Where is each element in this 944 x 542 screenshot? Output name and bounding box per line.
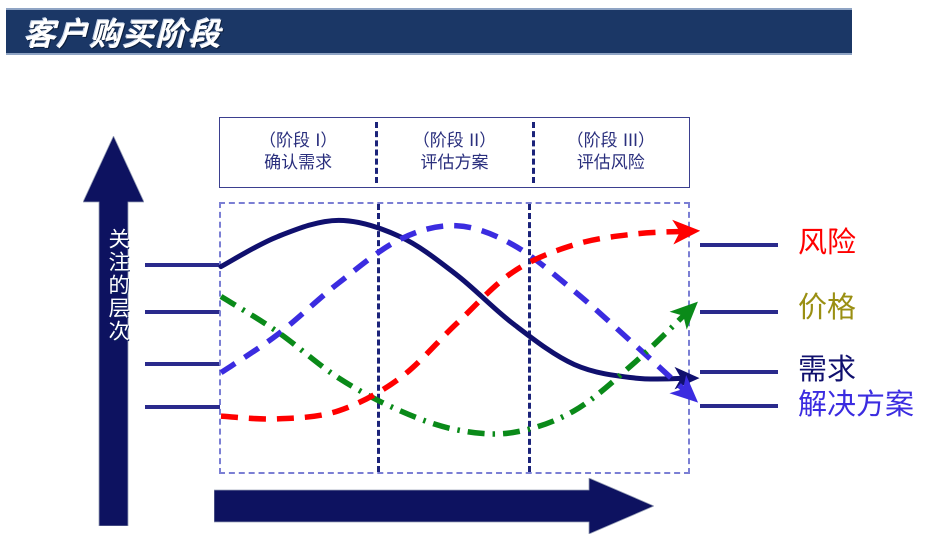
- legend-label-risk[interactable]: 风险: [798, 228, 856, 257]
- phase-2-roman: （阶段 II）: [413, 131, 496, 152]
- page-title: 客户购买阶段: [24, 9, 222, 54]
- phase-3-name: 评估风险: [577, 153, 645, 174]
- legend-label-solution[interactable]: 解决方案: [798, 390, 914, 419]
- y-axis-label: 关注的层次: [96, 228, 130, 343]
- legend-connector-price: [700, 310, 778, 314]
- plot-area: [219, 202, 690, 474]
- phase-cell-1[interactable]: （阶段 I） 确认需求: [220, 118, 376, 187]
- left-connector-4: [145, 405, 220, 409]
- phase-1-name: 确认需求: [264, 153, 332, 174]
- left-connector-3: [145, 362, 220, 366]
- left-connector-1: [145, 263, 220, 267]
- curve-价格: [221, 296, 692, 434]
- legend-label-demand[interactable]: 需求: [798, 355, 856, 384]
- phase-cell-3[interactable]: （阶段 III） 评估风险: [533, 118, 689, 187]
- phase-3-roman: （阶段 III）: [567, 131, 655, 152]
- legend-label-price[interactable]: 价格: [798, 293, 856, 322]
- phase-2-name: 评估方案: [420, 153, 488, 174]
- curve-解决方案: [221, 226, 692, 397]
- phase-1-roman: （阶段 I）: [259, 131, 337, 152]
- curve-需求: [221, 220, 692, 379]
- legend-connector-risk: [700, 243, 778, 247]
- phase-header-box: （阶段 I） 确认需求 （阶段 II） 评估方案 （阶段 III） 评估风险: [219, 117, 690, 188]
- legend-connector-solution: [700, 404, 778, 408]
- title-banner: 客户购买阶段: [6, 8, 852, 55]
- legend-connector-demand: [700, 370, 778, 374]
- x-axis-arrow: [214, 478, 654, 534]
- curves-svg: [221, 204, 692, 476]
- phase-cell-2[interactable]: （阶段 II） 评估方案: [376, 118, 532, 187]
- left-connector-2: [145, 310, 220, 314]
